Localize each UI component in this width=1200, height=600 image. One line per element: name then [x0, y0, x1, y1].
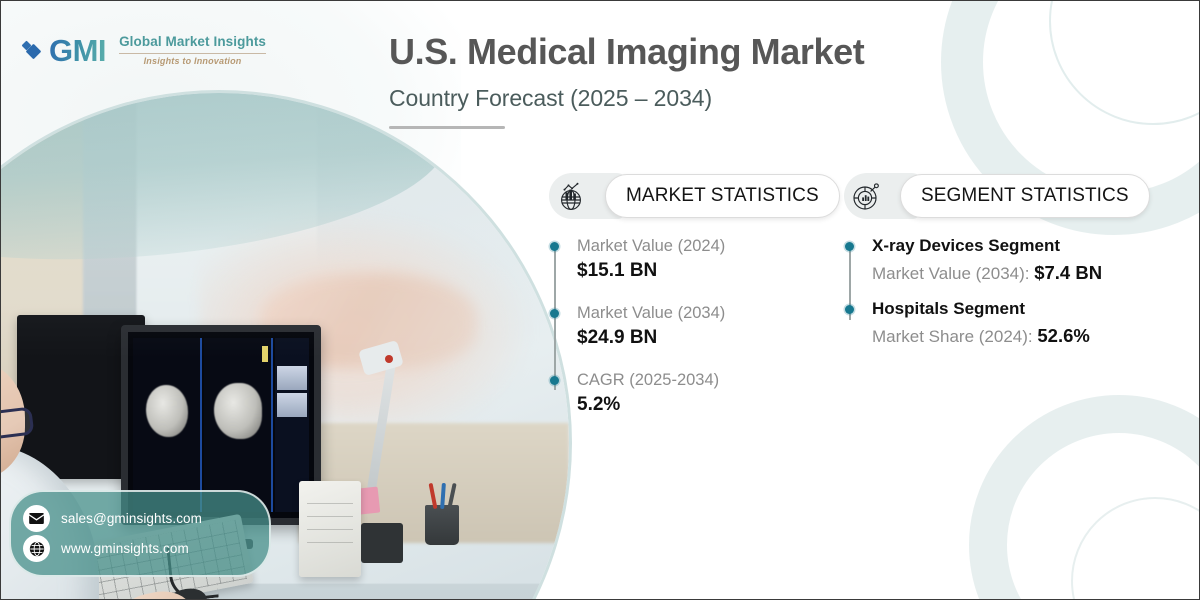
title-block: U.S. Medical Imaging Market Country Fore…	[389, 31, 864, 129]
logo-company-name: Global Market Insights	[119, 35, 266, 50]
decorative-ring-top-right-inner	[1049, 0, 1200, 125]
stat-value: $15.1 BN	[577, 258, 840, 284]
list-item: Market Value (2024) $15.1 BN	[577, 235, 840, 284]
market-statistics-header: MARKET STATISTICS	[549, 173, 840, 219]
market-statistics-title: MARKET STATISTICS	[605, 174, 840, 218]
infographic-canvas: GMI Global Market Insights Insights to I…	[0, 0, 1200, 600]
bullet-dot	[550, 376, 559, 385]
segment-metric-row: Market Value (2034): $7.4 BN	[872, 260, 1150, 286]
segment-name: Hospitals Segment	[872, 298, 1150, 321]
logo-tagline: Insights to Innovation	[119, 56, 266, 66]
contact-email-row[interactable]: sales@gminsights.com	[23, 505, 257, 532]
logo-wordmark: Global Market Insights Insights to Innov…	[119, 35, 266, 66]
bullet-dot	[550, 242, 559, 251]
globe-icon	[23, 535, 50, 562]
segment-metric-value: $7.4 BN	[1034, 262, 1102, 283]
segment-metric-label: Market Value (2034):	[872, 264, 1029, 283]
title-underline	[389, 126, 505, 129]
segment-statistics-list: X-ray Devices Segment Market Value (2034…	[844, 235, 1150, 349]
market-connector-line	[554, 246, 556, 390]
logo-divider	[119, 53, 266, 54]
bullet-dot	[845, 305, 854, 314]
list-item: Market Value (2034) $24.9 BN	[577, 302, 840, 351]
contact-website: www.gminsights.com	[61, 541, 189, 556]
list-item: X-ray Devices Segment Market Value (2034…	[872, 235, 1150, 286]
stat-value: 5.2%	[577, 392, 840, 418]
segment-statistics-title: SEGMENT STATISTICS	[900, 174, 1150, 218]
stat-label: CAGR (2025-2034)	[577, 369, 840, 391]
decorative-ring-bottom-right	[969, 395, 1200, 600]
stat-label: Market Value (2024)	[577, 235, 840, 257]
decorative-ring-bottom-right-inner	[1071, 497, 1200, 600]
market-statistics-list: Market Value (2024) $15.1 BN Market Valu…	[549, 235, 840, 418]
page-subtitle: Country Forecast (2025 – 2034)	[389, 85, 864, 112]
list-item: Hospitals Segment Market Share (2024): 5…	[872, 298, 1150, 349]
bullet-dot	[845, 242, 854, 251]
contact-panel: sales@gminsights.com www.gminsights.com	[9, 490, 271, 577]
page-title: U.S. Medical Imaging Market	[389, 31, 864, 73]
contact-website-row[interactable]: www.gminsights.com	[23, 535, 257, 562]
logo-abbreviation: GMI	[49, 35, 106, 66]
bullet-dot	[550, 309, 559, 318]
segment-metric-label: Market Share (2024):	[872, 327, 1033, 346]
envelope-icon	[23, 505, 50, 532]
segment-metric-value: 52.6%	[1037, 325, 1089, 346]
pie-chart-pointer-icon	[844, 173, 890, 219]
brand-logo[interactable]: GMI Global Market Insights Insights to I…	[23, 35, 266, 66]
segment-statistics-panel: SEGMENT STATISTICS X-ray Devices Segment…	[844, 173, 1150, 349]
list-item: CAGR (2025-2034) 5.2%	[577, 369, 840, 418]
market-statistics-panel: MARKET STATISTICS Market Value (2024) $1…	[549, 173, 840, 418]
segment-name: X-ray Devices Segment	[872, 235, 1150, 258]
segment-metric-row: Market Share (2024): 52.6%	[872, 323, 1150, 349]
gmi-diamond-logo-icon	[23, 36, 40, 66]
segment-statistics-header: SEGMENT STATISTICS	[844, 173, 1150, 219]
globe-bar-chart-icon	[549, 173, 595, 219]
stat-label: Market Value (2034)	[577, 302, 840, 324]
stat-value: $24.9 BN	[577, 325, 840, 351]
contact-email: sales@gminsights.com	[61, 511, 202, 526]
